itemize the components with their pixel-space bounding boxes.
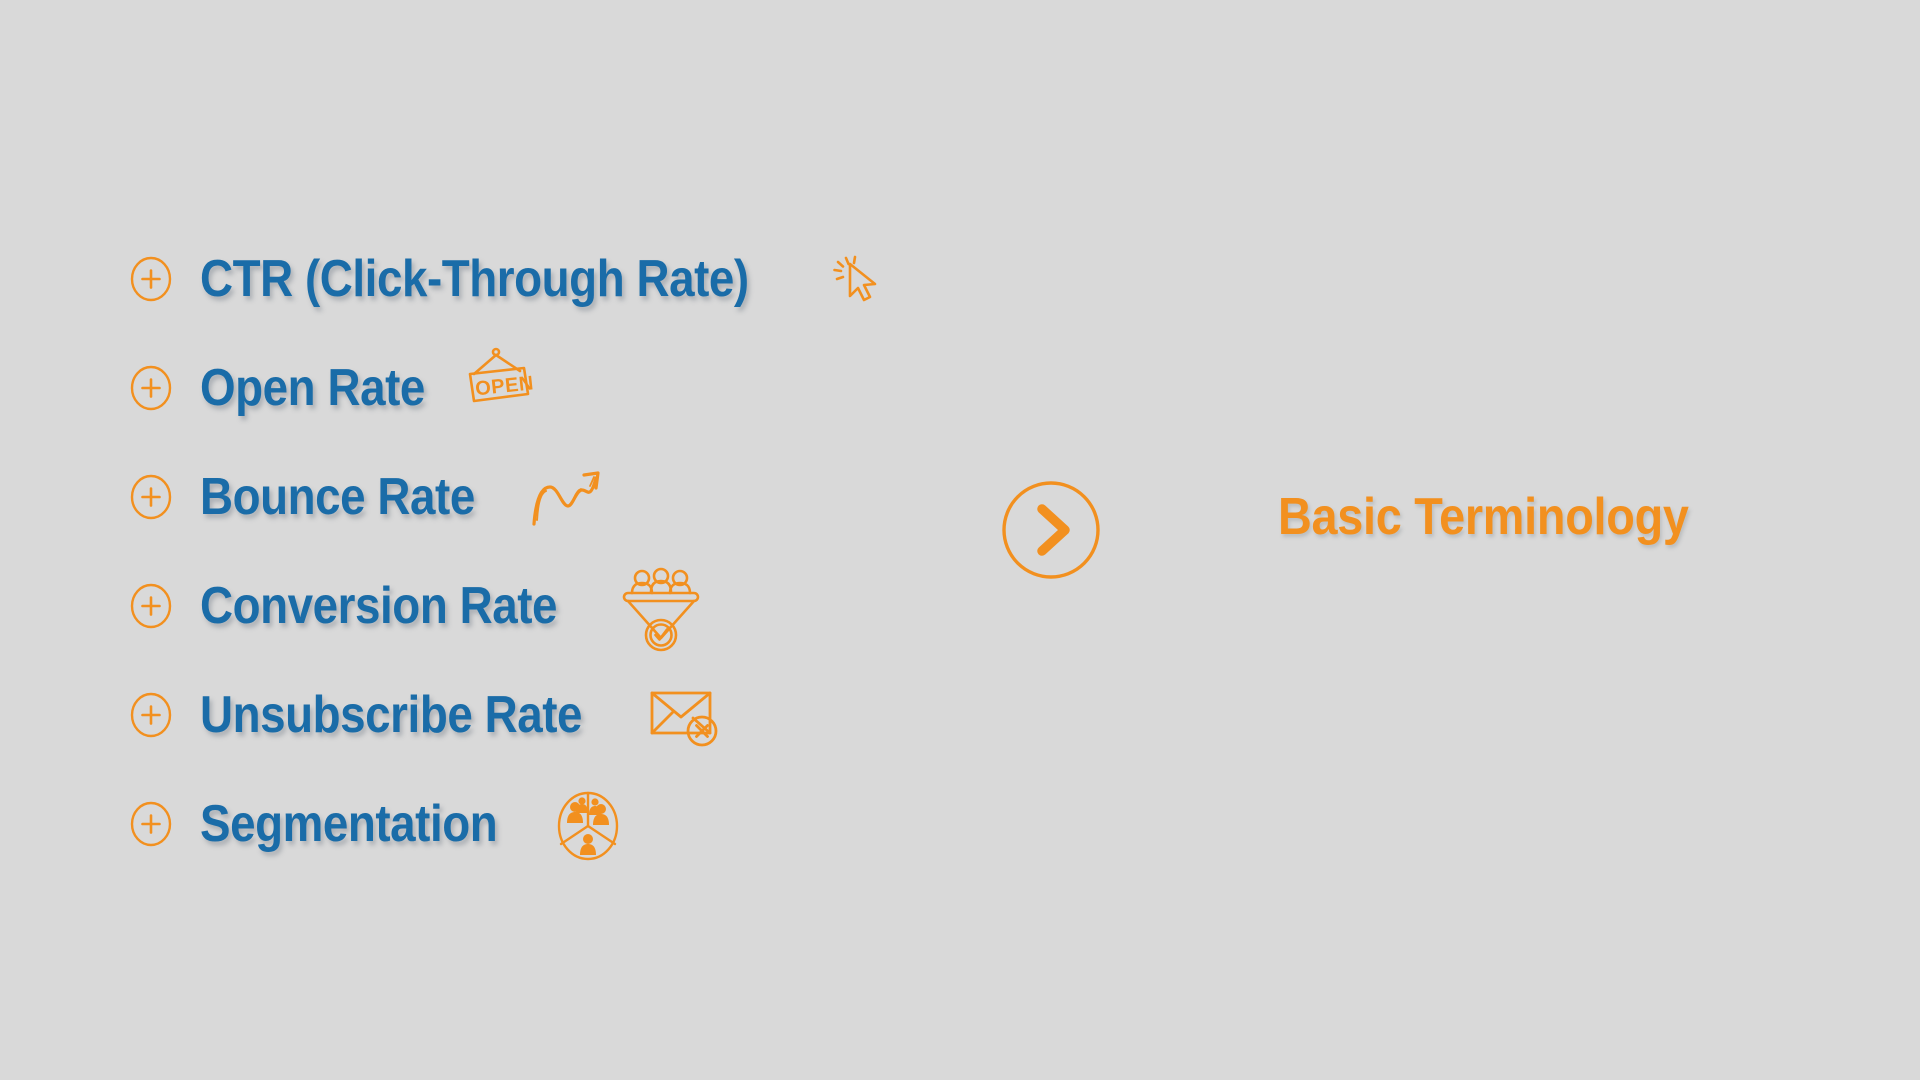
list-item-icon [606, 558, 704, 654]
plus-circle-icon [128, 256, 174, 302]
section-title: Basic Terminology [1278, 487, 1689, 548]
list-item-label: Unsubscribe Rate [200, 689, 582, 741]
list-item-icon [512, 462, 612, 532]
plus-circle-icon [128, 365, 174, 411]
terminology-list: CTR (Click-Through Rate) [128, 224, 1088, 878]
conversion-funnel-icon [618, 564, 704, 654]
list-item-label: Segmentation [200, 798, 497, 850]
list-item[interactable]: Conversion Rate [128, 551, 1088, 660]
slide-canvas: CTR (Click-Through Rate) [0, 0, 1920, 1080]
chevron-right-circle-icon[interactable] [1000, 479, 1102, 581]
list-item-label: Bounce Rate [200, 471, 475, 523]
list-item-icon [824, 246, 892, 312]
list-item-icon [634, 677, 724, 753]
list-item[interactable]: Segmentation [128, 769, 1088, 878]
audience-segments-icon [552, 787, 624, 865]
list-item-label: CTR (Click-Through Rate) [200, 253, 749, 305]
open-sign-icon: OPEN [458, 343, 534, 419]
svg-text:OPEN: OPEN [474, 372, 534, 400]
click-cursor-icon [826, 246, 892, 312]
list-item[interactable]: Bounce Rate [128, 442, 1088, 551]
list-item[interactable]: Unsubscribe Rate [128, 660, 1088, 769]
plus-circle-icon [128, 801, 174, 847]
plus-circle-icon [128, 692, 174, 738]
envelope-x-icon [646, 681, 724, 753]
plus-circle-icon [128, 583, 174, 629]
trend-arrow-up-icon [526, 456, 612, 532]
list-item-icon: OPEN [456, 357, 534, 419]
list-item-label: Open Rate [200, 362, 425, 414]
list-item[interactable]: Open Rate OPEN [128, 333, 1088, 442]
list-item-label: Conversion Rate [200, 580, 557, 632]
list-item[interactable]: CTR (Click-Through Rate) [128, 224, 1088, 333]
list-item-icon [538, 783, 624, 865]
plus-circle-icon [128, 474, 174, 520]
